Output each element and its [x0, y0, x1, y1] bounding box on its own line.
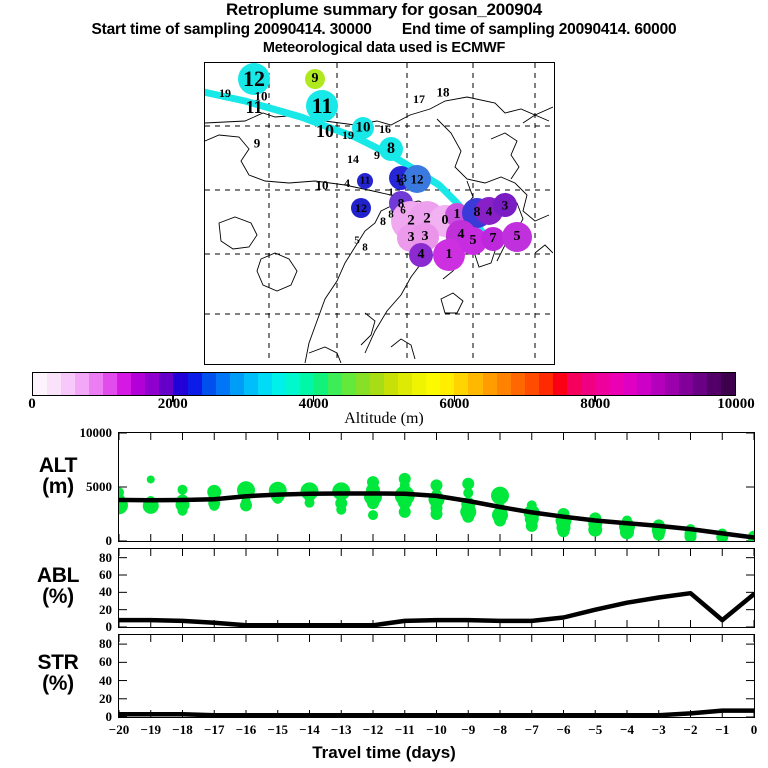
- colorbar-segment: [398, 373, 412, 395]
- colorbar-segment: [693, 373, 707, 395]
- x-tick-label: −12: [363, 722, 383, 738]
- x-tick-label: −14: [299, 722, 319, 738]
- sampling-time-line: Start time of sampling 20090414. 30000 E…: [0, 20, 768, 39]
- colorbar-segment: [342, 373, 356, 395]
- map-blob-label: 9: [254, 137, 261, 150]
- map-blob-label: 4: [344, 177, 350, 189]
- colorbar-segment: [454, 373, 468, 395]
- map-blob-label: 8: [362, 243, 368, 254]
- map-blob-label: 17: [413, 93, 425, 105]
- map-blob-label: 3: [502, 199, 509, 212]
- map-blob-label: 8: [388, 210, 394, 221]
- map-blob-label: 12: [243, 68, 265, 90]
- map-blob-label: 2: [423, 212, 431, 227]
- colorbar-segment: [511, 373, 525, 395]
- map-blob-label: 6: [398, 178, 404, 189]
- page-title: Retroplume summary for gosan_200904: [0, 0, 768, 20]
- x-tick-label: −13: [331, 722, 351, 738]
- map-blob-label: 4: [458, 228, 465, 242]
- start-time-label: Start time of sampling 20090414. 30000: [92, 21, 372, 38]
- map-blob-label: 3: [422, 230, 429, 244]
- x-tick-label: −7: [525, 722, 539, 738]
- map-blob-label: 19: [342, 129, 354, 141]
- altitude-colorbar[interactable]: [32, 372, 736, 396]
- map-blob-label: 12: [355, 202, 367, 214]
- colorbar-segment: [61, 373, 75, 395]
- map-blob-label: 5: [354, 236, 360, 247]
- x-tick-label: −17: [204, 722, 224, 738]
- colorbar-segment: [188, 373, 202, 395]
- colorbar-segment: [131, 373, 145, 395]
- colorbar-axis-title: Altitude (m): [0, 410, 768, 428]
- x-axis-title: Travel time (days): [0, 743, 768, 763]
- y-tick-label: 20: [40, 691, 112, 707]
- y-tick-label: 80: [40, 550, 112, 566]
- y-tick-label: 80: [40, 636, 112, 652]
- map-blob-label: 16: [379, 123, 391, 135]
- colorbar-segment: [300, 373, 314, 395]
- colorbar-segment: [314, 373, 328, 395]
- map-blob-label: 12: [411, 173, 424, 186]
- map-blob-label: 10: [316, 179, 329, 192]
- colorbar-segment: [47, 373, 61, 395]
- colorbar-segment: [173, 373, 187, 395]
- map-blob-label: 8: [387, 141, 395, 157]
- colorbar-segment: [145, 373, 159, 395]
- colorbar-segment: [721, 373, 735, 395]
- x-tick-label: −9: [461, 722, 475, 738]
- colorbar-segment: [679, 373, 693, 395]
- map-blob-label: 0: [442, 214, 449, 228]
- map-blob-label: 11: [312, 95, 333, 117]
- y-tick-label: 0: [40, 533, 112, 549]
- x-tick-label: −11: [395, 722, 415, 738]
- colorbar-segment: [230, 373, 244, 395]
- colorbar-segment: [244, 373, 258, 395]
- colorbar-segment: [637, 373, 651, 395]
- x-tick-label: −4: [620, 722, 634, 738]
- colorbar-segment: [539, 373, 553, 395]
- x-tick-label: −3: [652, 722, 666, 738]
- colorbar-segment: [426, 373, 440, 395]
- map-blob-label: 5: [470, 234, 477, 248]
- x-tick-label: −5: [588, 722, 602, 738]
- x-tick-label: −10: [426, 722, 446, 738]
- y-tick-label: 10000: [40, 425, 112, 441]
- colorbar-segment: [117, 373, 131, 395]
- x-tick-label: 0: [751, 722, 758, 738]
- map-blob-label: 6: [400, 206, 406, 217]
- colorbar-segment: [384, 373, 398, 395]
- y-tick-label: 60: [40, 654, 112, 670]
- y-tick-label: 40: [40, 584, 112, 600]
- map-blob-label: 4: [418, 248, 425, 262]
- map-blob-label: 9: [312, 72, 319, 86]
- y-tick-label: 5000: [40, 479, 112, 495]
- x-tick-label: −8: [493, 722, 507, 738]
- map-blob-label: 8: [380, 215, 386, 227]
- map-blob-label: 1: [388, 188, 394, 199]
- colorbar-segment: [468, 373, 482, 395]
- x-tick-label: −6: [557, 722, 571, 738]
- end-time-label: End time of sampling 20090414. 60000: [402, 21, 677, 38]
- colorbar-segment: [651, 373, 665, 395]
- colorbar-segment: [483, 373, 497, 395]
- colorbar-segment: [665, 373, 679, 395]
- abl-plot[interactable]: [118, 548, 755, 628]
- y-tick-label: 40: [40, 673, 112, 689]
- map-blob-label: 14: [347, 153, 359, 165]
- colorbar-segment: [567, 373, 581, 395]
- map-blob-label: 10: [316, 122, 334, 140]
- meteorological-data-label: Meteorological data used is ECMWF: [0, 39, 768, 57]
- colorbar-segment: [216, 373, 230, 395]
- retroplume-map[interactable]: 1291110819101191019161718149104128581113…: [204, 62, 555, 365]
- colorbar-segment: [258, 373, 272, 395]
- colorbar-segment: [609, 373, 623, 395]
- str-plot[interactable]: [118, 634, 755, 718]
- map-blob-label: 11: [360, 176, 370, 187]
- x-tick-label: −15: [268, 722, 288, 738]
- colorbar-segment: [33, 373, 47, 395]
- header-block: Retroplume summary for gosan_200904 Star…: [0, 0, 768, 57]
- map-blob-label: 5: [514, 230, 521, 244]
- colorbar-segment: [370, 373, 384, 395]
- alt-plot[interactable]: [118, 432, 755, 542]
- colorbar-segment: [553, 373, 567, 395]
- colorbar-segment: [707, 373, 721, 395]
- map-blob-label: 2: [407, 214, 415, 229]
- x-tick-label: −20: [109, 722, 129, 738]
- colorbar-segment: [286, 373, 300, 395]
- colorbar-segment: [595, 373, 609, 395]
- x-tick-label: −18: [172, 722, 192, 738]
- map-blob-label: 1: [454, 208, 461, 222]
- x-tick-label: −16: [236, 722, 256, 738]
- colorbar-segment: [202, 373, 216, 395]
- y-tick-label: 20: [40, 602, 112, 618]
- map-blob-label: 8: [474, 206, 481, 220]
- map-blob-label: 18: [437, 86, 450, 99]
- colorbar-segment: [328, 373, 342, 395]
- colorbar-segment: [412, 373, 426, 395]
- colorbar-segment: [89, 373, 103, 395]
- x-tick-label: −1: [715, 722, 729, 738]
- colorbar-segment: [159, 373, 173, 395]
- map-blob-label: 9: [374, 149, 380, 161]
- x-tick-label: −19: [141, 722, 161, 738]
- map-blob-label: 1: [446, 248, 453, 262]
- map-blob-label: 3: [408, 231, 415, 245]
- colorbar-segment: [623, 373, 637, 395]
- colorbar-segment: [103, 373, 117, 395]
- x-tick-label: −2: [684, 722, 698, 738]
- map-blob-label: 19: [219, 87, 231, 99]
- colorbar-segment: [497, 373, 511, 395]
- map-blob-label: 7: [490, 232, 497, 246]
- colorbar-segment: [272, 373, 286, 395]
- map-blob-label: 11: [245, 98, 262, 116]
- y-tick-label: 0: [40, 619, 112, 635]
- y-tick-label: 0: [40, 709, 112, 725]
- colorbar-segment: [356, 373, 370, 395]
- colorbar-segment: [75, 373, 89, 395]
- map-blob-label: 10: [356, 121, 371, 136]
- colorbar-segment: [581, 373, 595, 395]
- y-tick-label: 60: [40, 567, 112, 583]
- colorbar-segment: [440, 373, 454, 395]
- colorbar-segment: [525, 373, 539, 395]
- map-blob-label: 4: [486, 205, 493, 218]
